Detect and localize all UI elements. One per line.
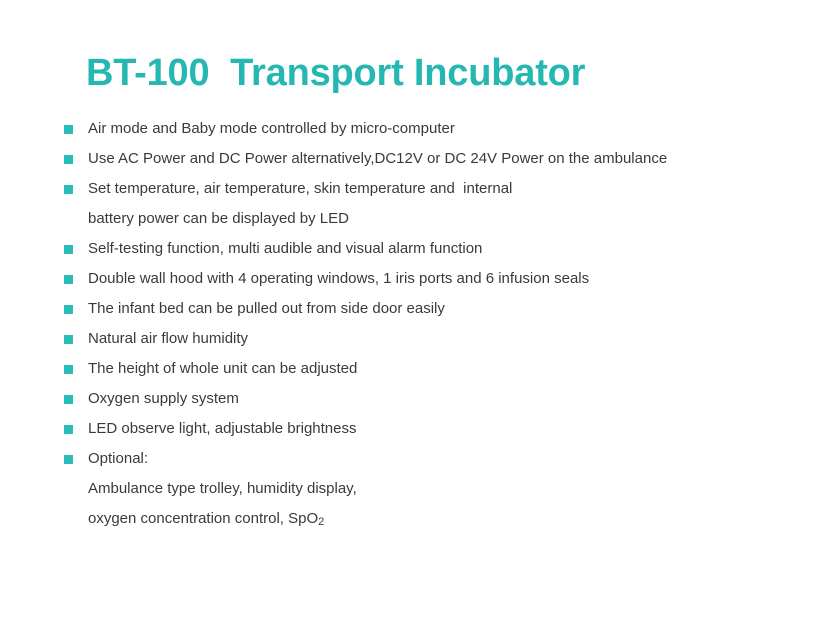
list-item-continuation: battery power can be displayed by LED (0, 204, 817, 234)
subscript-text: 2 (318, 516, 324, 528)
list-item-label: LED observe light, adjustable brightness (88, 414, 357, 444)
square-bullet-icon (64, 395, 73, 404)
square-bullet-icon (64, 245, 73, 254)
list-item-label: Double wall hood with 4 operating window… (88, 264, 589, 294)
square-bullet-icon (64, 125, 73, 134)
list-item-label: Natural air flow humidity (88, 324, 248, 354)
square-bullet-icon (64, 185, 73, 194)
list-item-label: Self-testing function, multi audible and… (88, 234, 482, 264)
list-item-label: Use AC Power and DC Power alternatively,… (88, 144, 667, 174)
list-item-label: Air mode and Baby mode controlled by mic… (88, 114, 455, 144)
list-item: Optional: (0, 444, 817, 474)
square-bullet-icon (64, 155, 73, 164)
list-item-continuation: oxygen concentration control, SpO2 (0, 504, 817, 534)
list-item-continuation: Ambulance type trolley, humidity display… (0, 474, 817, 504)
list-item: Oxygen supply system (0, 384, 817, 414)
page-title: BT-100 Transport Incubator (86, 50, 585, 96)
list-item-continuation-label: oxygen concentration control, SpO2 (88, 504, 324, 535)
list-item: Self-testing function, multi audible and… (0, 234, 817, 264)
list-item-label: The infant bed can be pulled out from si… (88, 294, 445, 324)
feature-bullet-list: Air mode and Baby mode controlled by mic… (0, 114, 817, 534)
square-bullet-icon (64, 275, 73, 284)
list-item-label: The height of whole unit can be adjusted (88, 354, 357, 384)
square-bullet-icon (64, 365, 73, 374)
list-item: Use AC Power and DC Power alternatively,… (0, 144, 817, 174)
list-item-label: Oxygen supply system (88, 384, 239, 414)
list-item: Air mode and Baby mode controlled by mic… (0, 114, 817, 144)
list-item-continuation-label: battery power can be displayed by LED (88, 204, 349, 234)
list-item: The infant bed can be pulled out from si… (0, 294, 817, 324)
list-item-label: Set temperature, air temperature, skin t… (88, 174, 512, 204)
slide-canvas: BT-100 Transport Incubator Air mode and … (0, 0, 817, 617)
list-item: Natural air flow humidity (0, 324, 817, 354)
list-item: Set temperature, air temperature, skin t… (0, 174, 817, 204)
square-bullet-icon (64, 335, 73, 344)
list-item: LED observe light, adjustable brightness (0, 414, 817, 444)
list-item: Double wall hood with 4 operating window… (0, 264, 817, 294)
square-bullet-icon (64, 425, 73, 434)
continuation-text-base: oxygen concentration control, SpO (88, 510, 318, 527)
list-item-label: Optional: (88, 444, 148, 474)
list-item-continuation-label: Ambulance type trolley, humidity display… (88, 474, 357, 504)
list-item: The height of whole unit can be adjusted (0, 354, 817, 384)
square-bullet-icon (64, 455, 73, 464)
square-bullet-icon (64, 305, 73, 314)
